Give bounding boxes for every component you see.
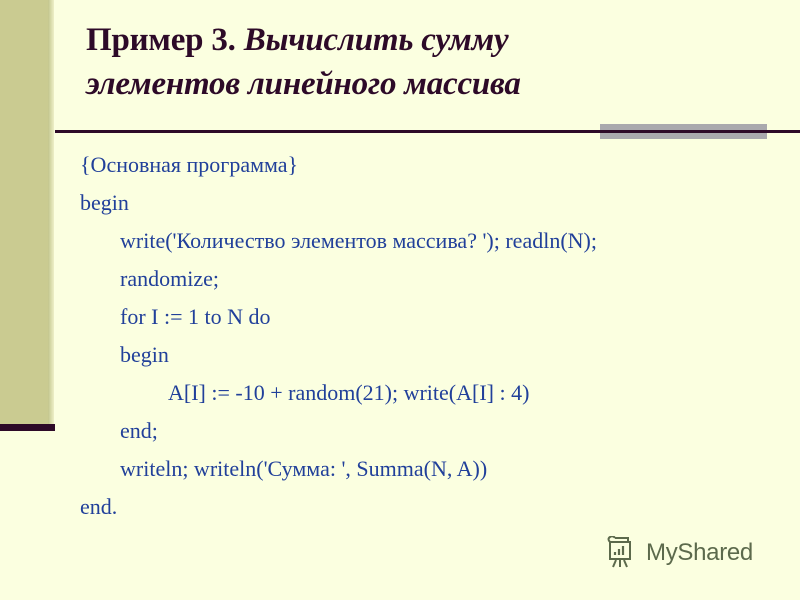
left-accent-band	[0, 0, 48, 425]
code-line: end.	[80, 488, 780, 526]
presentation-easel-chart-icon	[605, 536, 639, 570]
code-line: A[I] := -10 + random(21); write(A[I] : 4…	[80, 374, 780, 412]
code-line: {Основная программа}	[80, 146, 780, 184]
code-line: write('Количество элементов массива? ');…	[80, 222, 780, 260]
left-accent-band-cap	[0, 424, 55, 431]
watermark-label: MyShared	[646, 540, 753, 566]
left-accent-band-stripe	[48, 0, 54, 425]
watermark: MyShared	[605, 536, 753, 570]
code-line: randomize;	[80, 260, 780, 298]
code-line: begin	[80, 336, 780, 374]
code-line: begin	[80, 184, 780, 222]
slide-canvas: Пример 3. Вычислить сумму элементов лине…	[0, 0, 800, 600]
slide-title-line-2: элементов линейного массива	[86, 62, 776, 106]
slide-title-phrase-2: элементов линейного массива	[86, 66, 521, 102]
code-listing: {Основная программа} begin write('Количе…	[80, 146, 780, 526]
slide-title-phrase-1: Вычислить сумму	[236, 22, 509, 58]
divider-rule	[55, 130, 800, 133]
code-line: for I := 1 to N do	[80, 298, 780, 336]
slide-title: Пример 3. Вычислить сумму элементов лине…	[86, 18, 776, 106]
code-line: end;	[80, 412, 780, 450]
code-line: writeln; writeln('Сумма: ', Summa(N, A))	[80, 450, 780, 488]
slide-title-line-1: Пример 3. Вычислить сумму	[86, 18, 776, 62]
slide-title-label: Пример 3.	[86, 22, 236, 58]
